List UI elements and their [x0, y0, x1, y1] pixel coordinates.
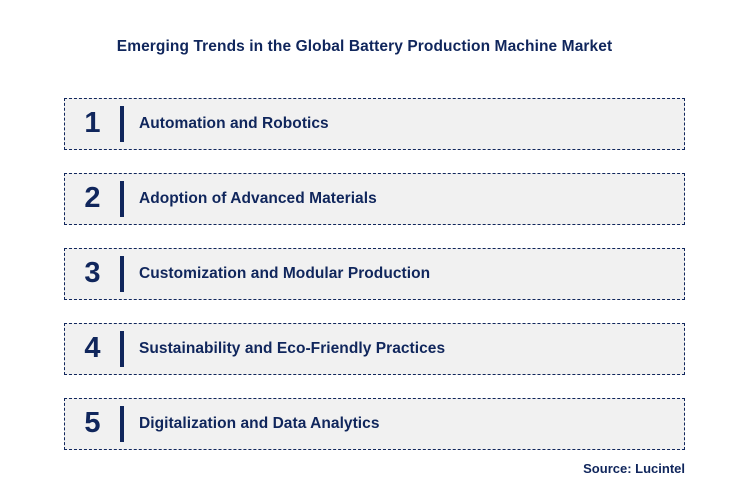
trend-number: 4: [65, 334, 120, 365]
source-attribution: Source: Lucintel: [583, 461, 685, 476]
trend-label: Automation and Robotics: [124, 115, 329, 133]
trend-number: 5: [65, 409, 120, 440]
trend-number: 3: [65, 259, 120, 290]
trend-label: Customization and Modular Production: [124, 265, 430, 283]
list-item[interactable]: 1 Automation and Robotics: [64, 98, 685, 150]
page-title: Emerging Trends in the Global Battery Pr…: [0, 38, 729, 56]
trend-label: Adoption of Advanced Materials: [124, 190, 377, 208]
trend-number: 2: [65, 184, 120, 215]
trend-label: Sustainability and Eco-Friendly Practice…: [124, 340, 445, 358]
list-item[interactable]: 4 Sustainability and Eco-Friendly Practi…: [64, 323, 685, 375]
trend-list: 1 Automation and Robotics 2 Adoption of …: [64, 98, 685, 450]
trend-number: 1: [65, 109, 120, 140]
list-item[interactable]: 3 Customization and Modular Production: [64, 248, 685, 300]
list-item[interactable]: 2 Adoption of Advanced Materials: [64, 173, 685, 225]
list-item[interactable]: 5 Digitalization and Data Analytics: [64, 398, 685, 450]
infographic-canvas: Emerging Trends in the Global Battery Pr…: [0, 0, 729, 495]
trend-label: Digitalization and Data Analytics: [124, 415, 380, 433]
